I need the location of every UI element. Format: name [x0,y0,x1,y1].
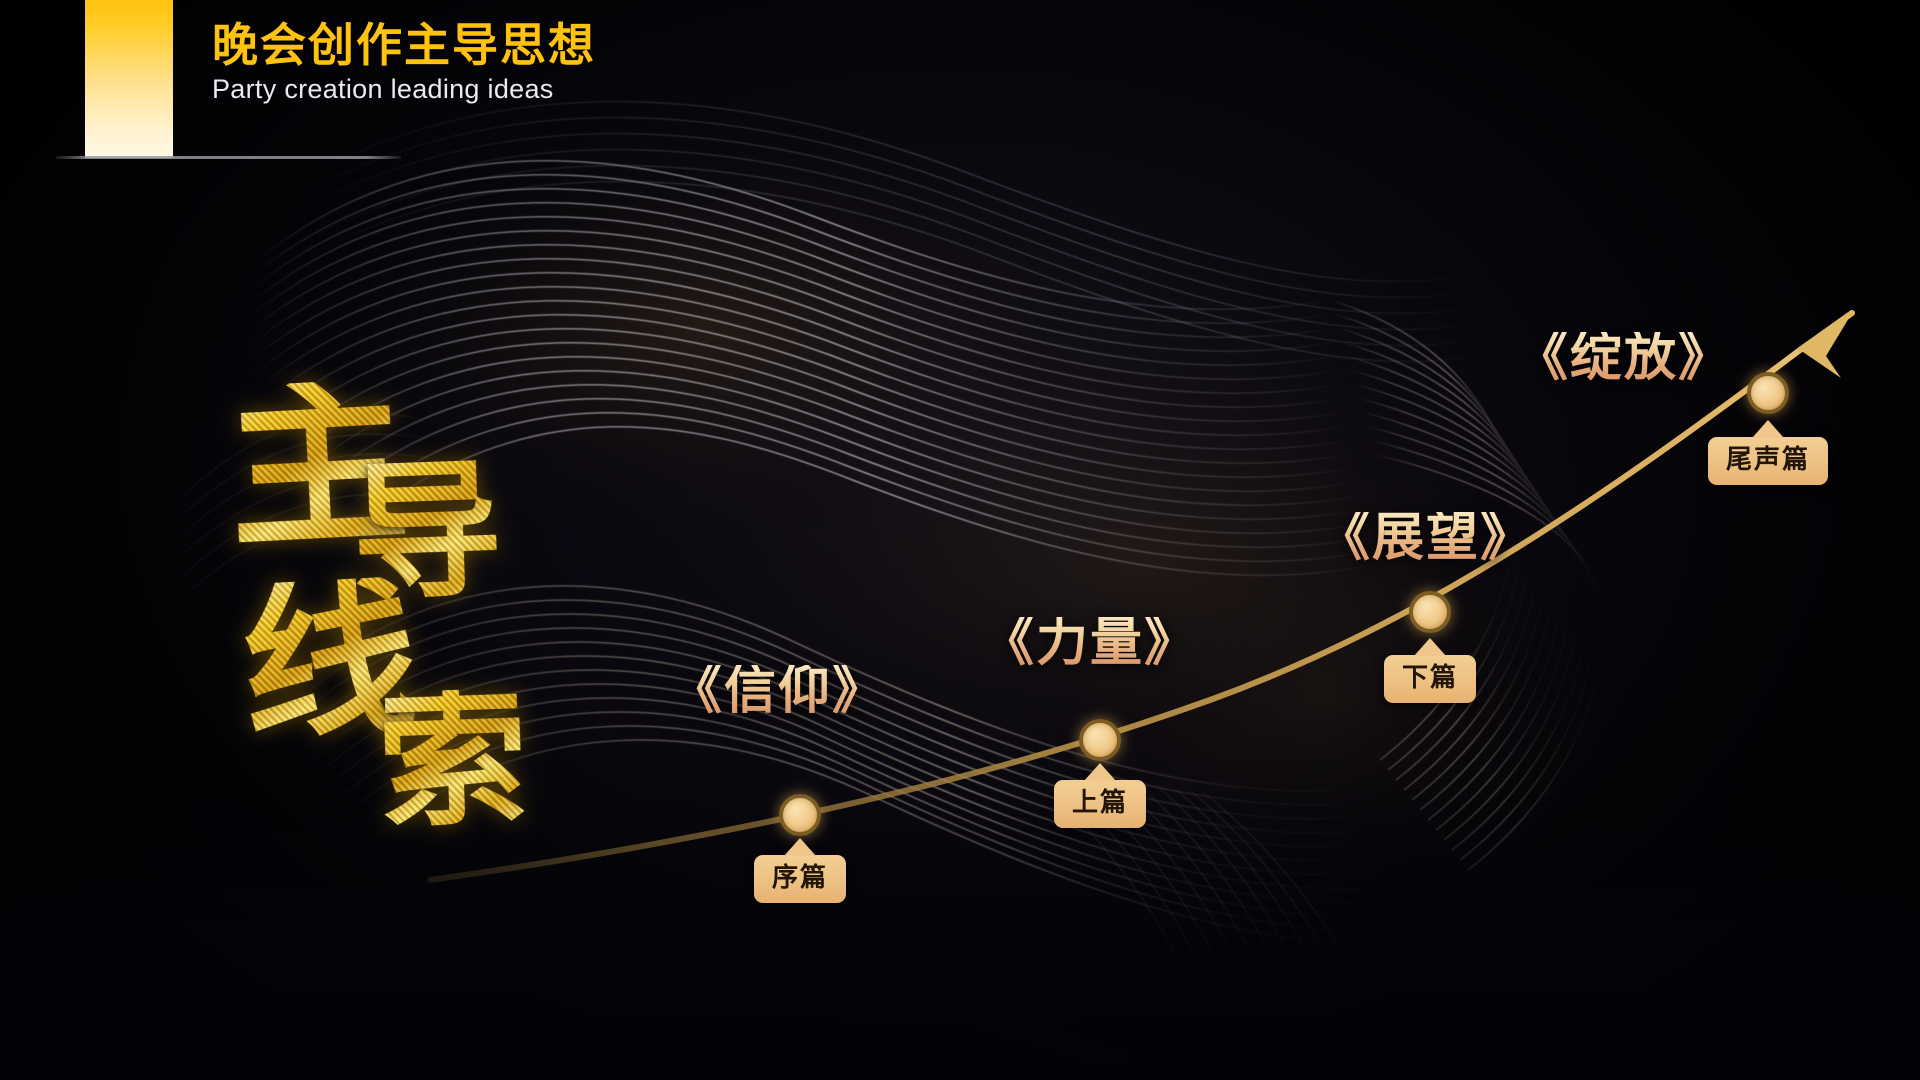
timeline-node-1[interactable] [779,794,821,836]
timeline-diagram: 《信仰》 《力量》 《展望》 《绽放》 序篇 上篇 下篇 尾声篇 [0,0,1920,1080]
timeline-node-3[interactable] [1409,591,1451,633]
timeline-node-4[interactable] [1747,372,1789,414]
chapter-title-2: 《力量》 [982,617,1198,669]
timeline-badge-2[interactable]: 上篇 [1054,780,1146,828]
timeline-badge-4[interactable]: 尾声篇 [1708,437,1828,485]
timeline-badge-1[interactable]: 序篇 [754,855,846,903]
chapter-title-1: 《信仰》 [670,665,886,717]
timeline-node-2[interactable] [1079,719,1121,761]
slide-canvas: 晚会创作主导思想 Party creation leading ideas 主 … [0,0,1920,1080]
chapter-title-3: 《展望》 [1318,512,1534,564]
timeline-badge-3[interactable]: 下篇 [1384,655,1476,703]
chapter-title-4: 《绽放》 [1516,332,1732,384]
